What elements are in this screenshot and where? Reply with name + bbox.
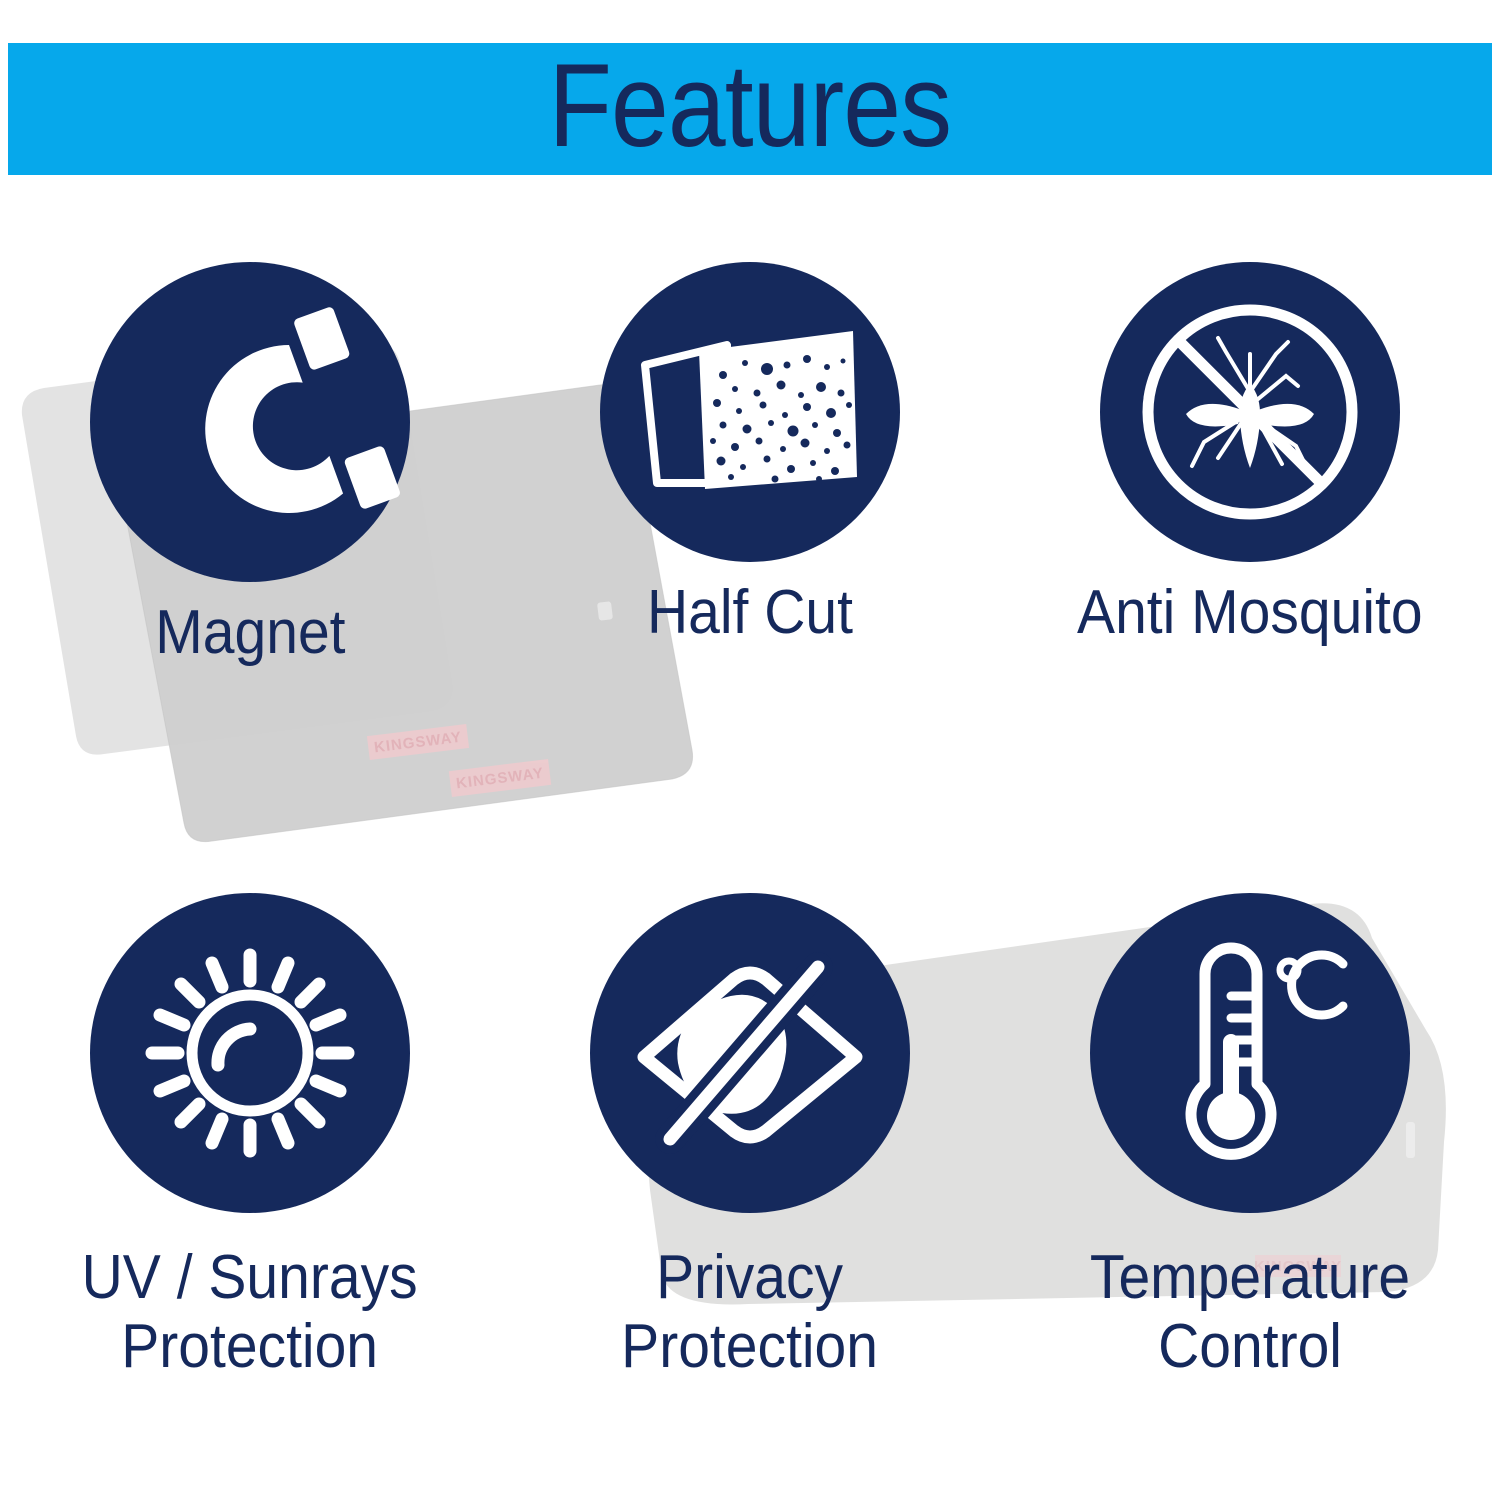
feature-label-privacy: Privacy Protection (622, 1243, 879, 1382)
feature-label-magnet: Magnet (155, 598, 345, 667)
sun-icon-badge (90, 893, 410, 1213)
mesh-panel-icon-badge (600, 262, 900, 562)
mesh-panel-icon (635, 307, 865, 517)
eye-off-icon (630, 953, 870, 1153)
brand-tag-rear: KINGSWAY (367, 724, 469, 760)
feature-item-privacy[interactable]: Privacy Protection (500, 893, 1000, 1382)
feature-row-top: Magnet (0, 262, 1500, 667)
magnet-icon (145, 317, 355, 527)
features-header-banner: Features (8, 43, 1492, 175)
thermometer-icon-badge (1090, 893, 1410, 1213)
eye-off-icon-badge (590, 893, 910, 1213)
feature-item-half-cut[interactable]: Half Cut (500, 262, 1000, 667)
magnet-icon-badge (90, 262, 410, 582)
thermometer-icon (1145, 938, 1355, 1168)
no-mosquito-icon (1130, 292, 1370, 532)
feature-label-uv-protection: UV / Sunrays Protection (82, 1243, 418, 1382)
feature-item-uv-protection[interactable]: UV / Sunrays Protection (0, 893, 500, 1382)
feature-item-anti-mosquito[interactable]: Anti Mosquito (1000, 262, 1500, 667)
brand-tag-front: KINGSWAY (449, 759, 551, 797)
feature-row-bottom: UV / Sunrays Protection Privacy Protecti… (0, 893, 1500, 1382)
feature-item-temperature[interactable]: Temperature Control (1000, 893, 1500, 1382)
feature-item-magnet[interactable]: Magnet (0, 262, 500, 667)
page-title: Features (549, 47, 952, 171)
feature-label-anti-mosquito: Anti Mosquito (1077, 578, 1423, 647)
feature-label-half-cut: Half Cut (647, 578, 853, 647)
feature-label-temperature: Temperature Control (1090, 1243, 1410, 1382)
no-mosquito-icon-badge (1100, 262, 1400, 562)
sun-icon (140, 943, 360, 1163)
